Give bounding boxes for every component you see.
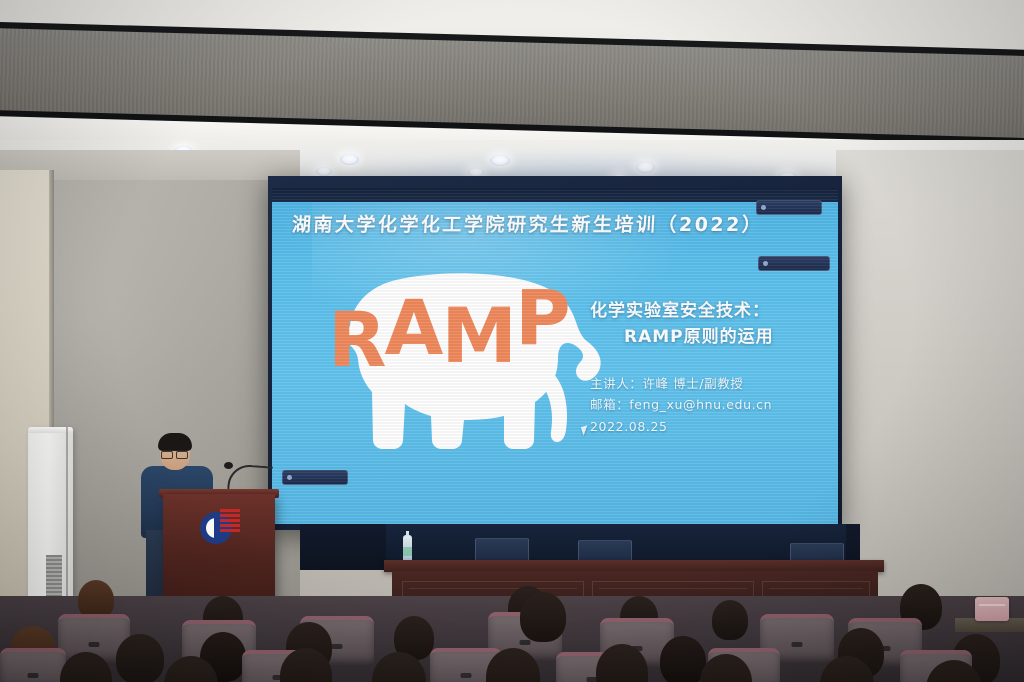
audience-head bbox=[520, 592, 566, 642]
slide-text-block: 化学实验室安全技术： RAMP原则的运用 主讲人：许峰 博士/副教授 邮箱：fe… bbox=[590, 298, 838, 437]
slide-toolbar-badge-top[interactable] bbox=[756, 200, 822, 215]
eyeglasses-icon bbox=[161, 450, 188, 457]
badge-dot-icon bbox=[763, 261, 768, 266]
air-conditioner-seam bbox=[66, 427, 68, 607]
downlight bbox=[316, 167, 332, 176]
slide-date-line: 2022.08.25 bbox=[590, 416, 838, 438]
microphone-icon bbox=[224, 462, 233, 469]
slide-title: 湖南大学化学化工学院研究生新生培训（2022） bbox=[291, 210, 722, 237]
water-bottle bbox=[403, 535, 412, 563]
audience-head bbox=[116, 634, 164, 682]
ramp-logo-artwork: RAMP bbox=[314, 244, 614, 474]
badge-dot-icon bbox=[287, 475, 292, 480]
slide-toolbar-badge-bottom[interactable] bbox=[282, 470, 348, 485]
auditorium-seat[interactable] bbox=[0, 648, 66, 682]
wall-right bbox=[836, 150, 1024, 600]
ramp-letter-a: A bbox=[385, 290, 442, 366]
downlight bbox=[340, 154, 359, 165]
screen-top-bar bbox=[272, 188, 838, 202]
lecture-hall-photo: 湖南大学化学化工学院研究生新生培训（2022） RAMP 化学实验室安全技术： … bbox=[0, 0, 1024, 682]
presenter-hair bbox=[158, 433, 192, 451]
badge-dot-icon bbox=[761, 205, 766, 210]
slide-heading-line-1: 化学实验室安全技术： bbox=[590, 298, 838, 324]
slide-heading-line-2: RAMP原则的运用 bbox=[624, 324, 838, 350]
ramp-letters: RAMP bbox=[328, 292, 608, 392]
slide-meta-block: 主讲人：许峰 博士/副教授 邮箱：feng_xu@hnu.edu.cn 2022… bbox=[590, 373, 838, 438]
downlight bbox=[636, 162, 655, 173]
presentation-screen[interactable]: 湖南大学化学化工学院研究生新生培训（2022） RAMP 化学实验室安全技术： … bbox=[272, 188, 838, 524]
audience-head bbox=[660, 636, 706, 682]
audience-head bbox=[712, 600, 748, 640]
downlight bbox=[490, 155, 510, 166]
slide-speaker-line: 主讲人：许峰 博士/副教授 bbox=[590, 373, 838, 395]
handbag bbox=[975, 597, 1009, 621]
slide-status-badge-right[interactable] bbox=[758, 256, 830, 271]
bottle-label bbox=[403, 547, 412, 556]
slide-email-line: 邮箱：feng_xu@hnu.edu.cn bbox=[590, 394, 838, 416]
university-emblem-icon bbox=[196, 505, 242, 547]
stage-chair bbox=[475, 538, 529, 562]
ramp-letter-r: R bbox=[328, 302, 385, 378]
ramp-letter-m: M bbox=[441, 298, 515, 374]
ramp-letter-p: P bbox=[515, 280, 569, 356]
